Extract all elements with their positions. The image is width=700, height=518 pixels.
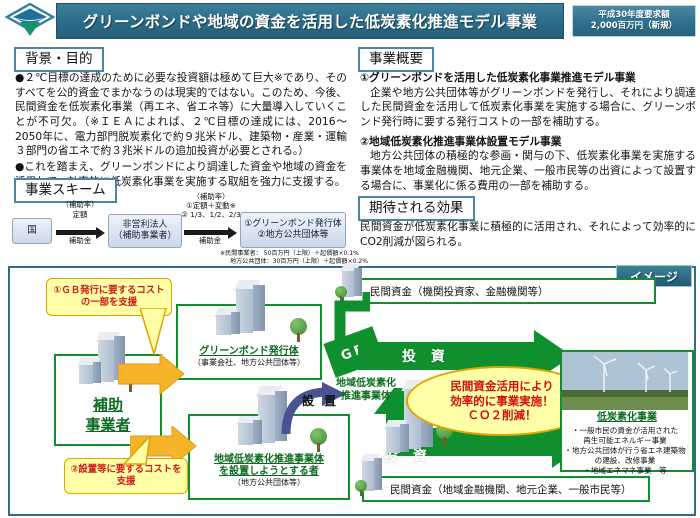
callout-support-gb-text: ①ＧＢ発行に要するコストの一部を支援: [51, 285, 167, 309]
outline-heading: 事業概要: [358, 47, 434, 72]
scheme-arrow-1-rate: 定額: [54, 210, 106, 219]
scheme-node-recipient: ①グリーンボンド発行体 ②地方公共団体等: [240, 212, 346, 248]
entity-founder-line1: 地域低炭素化推進事業体: [214, 454, 324, 465]
scheme-node-npo-line1: 非営利法人: [122, 220, 167, 231]
budget-fiscal-year: 平成30年度要求額: [598, 10, 669, 21]
budget-amount: 2,000百万円（新規）: [591, 21, 677, 32]
effect-heading: 期待される効果: [358, 196, 475, 221]
scheme-node-country: 国: [12, 218, 52, 244]
background-heading: 背景・目的: [14, 47, 104, 72]
project-bullet-1: ・一般市民の資金が活用された: [562, 426, 688, 436]
outline-item-2-body: 地方公共団体の積極的な参画・関与の下、低炭素化事業を実施する事業体を地域金融機関…: [360, 149, 696, 193]
project-bullet-4: の建設、改修事業: [562, 456, 688, 466]
callout-effect-line2: 効率的に事業実施！: [450, 394, 554, 408]
ministry-of-environment-logo: [4, 2, 56, 38]
project-title-text: 低炭素化事業: [597, 412, 657, 423]
outline-item-2-title: ②地域低炭素化推進事業体設置モデル事業: [360, 135, 696, 150]
gb-issuer-subtitle: （事業会社、地方公共団体等）: [178, 358, 320, 368]
outline-item-1-body: 企業や地方公共団体等がグリーンボンドを発行し、それにより調達した民間資金を活用し…: [360, 86, 696, 130]
project-title: 低炭素化事業: [562, 412, 692, 424]
image-diagram-area: イメージ 民間資金（機関投資家、金融機関等）: [8, 266, 696, 516]
outline-body: ①グリーンボンドを活用した低炭素化事業推進モデル事業 企業や地方公共団体等がグリ…: [360, 71, 696, 194]
outline-item-1-title: ①グリーンボンドを活用した低炭素化事業推進モデル事業: [360, 71, 696, 86]
entity-founder-label: 地域低炭素化推進事業体 を設置しようとする者 （地方公共団体等）: [190, 454, 348, 488]
project-bullet-list: ・一般市民の資金が活用された 再生可能エネルギー事業 ・地方公共団体が行う省エネ…: [562, 426, 688, 476]
page-header: グリーンボンドや地域の資金を活用した低炭素化推進モデル事業 平成30年度要求額 …: [0, 0, 700, 40]
page-title: グリーンボンドや地域の資金を活用した低炭素化推進モデル事業: [83, 10, 538, 32]
scheme-arrow-1-rate-paren: （補助率）: [54, 200, 106, 209]
project-bullet-3: ・地方公共団体が行う省エネ建築物: [562, 446, 688, 456]
wind-farm-photo: [562, 352, 688, 410]
gb-issuer-box: グリーンボンド発行体 （事業会社、地方公共団体等）: [176, 304, 322, 380]
background-bullet-1: ●２℃目標の達成のために必要な投資額は極めて巨大※であり、そのすべてを公的資金で…: [15, 71, 347, 159]
subsidizer-line1: 補助: [93, 396, 123, 414]
effect-text: 民間資金が低炭素化事業に積極的に活用され、それによって効率的にCO2削減が図られ…: [360, 220, 696, 249]
entity-founder-subtitle: （地方公共団体等）: [190, 478, 348, 488]
effect-body: 民間資金が低炭素化事業に積極的に活用され、それによって効率的にCO2削減が図られ…: [360, 220, 696, 250]
scheme-node-npo: 非営利法人 （補助事業者）: [108, 214, 182, 248]
callout-support-setup-text: ②設置等に要するコストを支援: [69, 464, 183, 488]
poster-root: グリーンボンドや地域の資金を活用した低炭素化推進モデル事業 平成30年度要求額 …: [0, 0, 700, 518]
tree-icon-gb-issuer: [288, 318, 308, 342]
building-icon-gb-issuer: [214, 280, 286, 342]
tree-icon-bottom-funds: [354, 480, 368, 496]
background-body: ●２℃目標の達成のために必要な投資額は極めて巨大※であり、そのすべてを公的資金で…: [15, 71, 347, 190]
support-arrow-1: [118, 354, 186, 396]
scheme-node-recipient-line1: ①グリーンボンド発行体: [244, 219, 342, 230]
scheme-arrow-2-rate-line1: ①定額＋変動※: [180, 201, 242, 210]
scheme-arrow-1-subsidy: 補助金: [52, 236, 108, 245]
callout-effect-line3: ＣＯ２削減！: [468, 408, 537, 422]
scheme-node-country-label: 国: [27, 225, 37, 236]
scheme-arrow-2-rate-paren: （補助率）: [182, 192, 240, 201]
callout-support-gb-tail: [140, 308, 174, 356]
scheme-node-recipient-line2: ②地方公共団体等: [257, 230, 328, 241]
budget-badge: 平成30年度要求額 2,000百万円（新規）: [572, 5, 696, 37]
callout-effect-line1: 民間資金活用により: [450, 379, 553, 393]
scheme-node-npo-line2: （補助事業者）: [113, 231, 176, 242]
scheme-arrow-2-rate-line2: ② 1/3、1/2、2/3: [180, 210, 242, 219]
gb-issuer-title: グリーンボンド発行体: [199, 346, 299, 357]
project-bullet-5: ・地域エネマネ事業 等: [562, 466, 688, 476]
title-banner: グリーンボンドや地域の資金を活用した低炭素化推進モデル事業: [56, 3, 564, 39]
entity-founder-line2: を設置しようとする者: [219, 466, 319, 477]
private-funds-bottom-label: 民間資金（地域金融機関、地元企業、一般市民等）: [364, 482, 632, 497]
callout-support-setup-tail: [118, 436, 152, 466]
scheme-flow-diagram: 国 （補助率） 定額 補助金 非営利法人 （補助事業者） （補助率） ①定額＋変…: [8, 204, 348, 262]
invest-top-label: 投 資: [402, 346, 450, 366]
private-funds-top-box: 民間資金（機関投資家、金融機関等）: [342, 278, 656, 304]
scheme-arrow-2-subsidy: 補助金: [182, 236, 238, 245]
gb-issuer-label: グリーンボンド発行体 （事業会社、地方公共団体等）: [178, 346, 320, 368]
subsidizer-line2: 事業者: [85, 416, 130, 434]
section-expected-effect: 期待される効果 民間資金が低炭素化事業に積極的に活用され、それによって効率的にC…: [358, 196, 696, 221]
project-box: 低炭素化事業 ・一般市民の資金が活用された 再生可能エネルギー事業 ・地方公共団…: [560, 350, 694, 472]
project-bullet-2: 再生可能エネルギー事業: [562, 436, 688, 446]
section-background-purpose: 背景・目的 ●２℃目標の達成のために必要な投資額は極めて巨大※であり、そのすべて…: [14, 47, 348, 72]
private-funds-top-label: 民間資金（機関投資家、金融機関等）: [344, 284, 549, 299]
section-business-outline: 事業概要 ①グリーンボンドを活用した低炭素化事業推進モデル事業 企業や地方公共団…: [358, 47, 696, 72]
